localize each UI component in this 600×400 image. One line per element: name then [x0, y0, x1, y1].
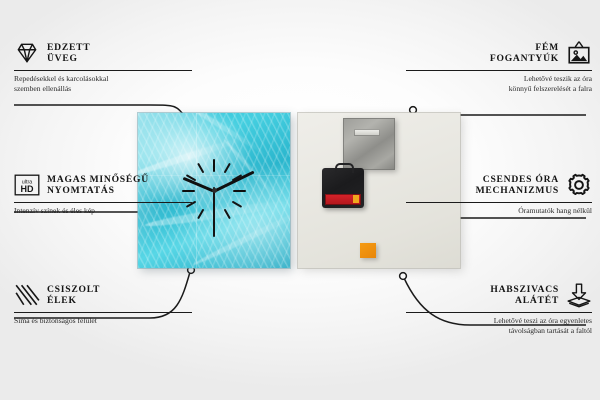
endpoint-foam — [400, 273, 407, 280]
diagonal-stripes-icon — [14, 282, 40, 308]
divider — [406, 70, 592, 71]
clock-second-hand — [213, 187, 214, 237]
feature-silent-mechanism: CSENDES ÓRAMECHANIZMUS Óramutatók hang n… — [406, 172, 592, 216]
feature-tempered-glass: EDZETTÜVEG Repedésekkel és karcolásokkal… — [14, 40, 192, 94]
feature-subtitle: Intenzív színek és éles kép — [14, 206, 192, 216]
feature-title: CSISZOLTÉLEK — [47, 284, 100, 307]
feature-metal-handles: FÉMFOGANTYÚK Lehetővé teszik az órakönny… — [406, 40, 592, 94]
infographic-stage: EDZETTÜVEG Repedésekkel és karcolásokkal… — [0, 0, 600, 400]
framed-picture-hanger-icon — [566, 40, 592, 66]
feature-title: EDZETTÜVEG — [47, 42, 90, 65]
feature-polished-edges: CSISZOLTÉLEK Sima és biztonságos felület — [14, 282, 192, 326]
divider — [406, 312, 592, 313]
diamond-gem-icon — [14, 40, 40, 66]
divider — [14, 312, 192, 313]
divider — [406, 202, 592, 203]
feature-subtitle: Sima és biztonságos felület — [14, 316, 192, 326]
divider — [14, 202, 192, 203]
foam-pad — [360, 243, 376, 258]
feature-high-quality-print: ultra HD MAGAS MINŐSÉGŰNYOMTATÁS Intenzí… — [14, 172, 192, 216]
svg-text:HD: HD — [21, 184, 34, 194]
feature-foam-pad: HABSZIVACSALÁTÉT Lehetővé teszi az óra e… — [406, 282, 592, 336]
feature-subtitle: Lehetővé teszik az órakönnyű felszerelés… — [406, 74, 592, 93]
feature-title: CSENDES ÓRAMECHANIZMUS — [476, 174, 559, 197]
feature-title: HABSZIVACSALÁTÉT — [490, 284, 559, 307]
clock-center-pin — [212, 188, 217, 193]
feature-title: MAGAS MINŐSÉGŰNYOMTATÁS — [47, 174, 149, 197]
clock-minute-hand — [213, 170, 254, 192]
arrow-onto-pad-icon — [566, 282, 592, 308]
feature-subtitle: Repedésekkel és karcolásokkalszemben ell… — [14, 74, 192, 93]
feature-title: FÉMFOGANTYÚK — [490, 42, 559, 65]
feature-subtitle: Lehetővé teszi az óra egyenletestávolság… — [406, 316, 592, 335]
gear-icon — [566, 172, 592, 198]
feature-subtitle: Óramutatók hang nélkül — [406, 206, 592, 216]
battery — [325, 194, 361, 205]
ultra-hd-icon: ultra HD — [14, 172, 40, 198]
metal-hanger-plate — [343, 118, 395, 170]
clock-movement — [322, 168, 364, 208]
divider — [14, 70, 192, 71]
